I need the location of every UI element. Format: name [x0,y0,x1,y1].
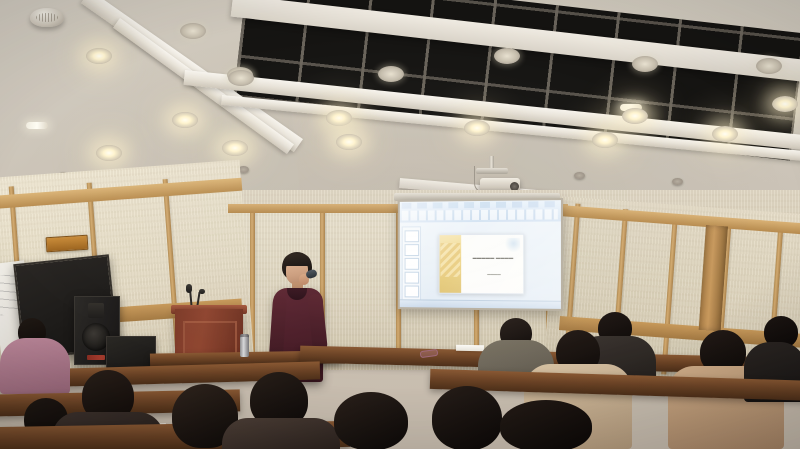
smoke-detector-icon [30,8,64,27]
audience-body [222,418,340,449]
ceiling-light [96,145,122,161]
metal-thermos [240,337,249,357]
slide-thumbnail-pane [402,226,421,305]
slide-thumbnail [405,244,419,256]
ceiling-light [228,70,254,86]
slide-thumbnail [405,272,419,284]
lecture-hall-photo: ▬▬▬▬▬ ▬▬▬▬ ▬▬▬▬ [0,0,800,449]
ceiling-light [632,56,658,72]
handout-paper [456,345,484,351]
slide-title: ▬▬▬▬▬ ▬▬▬▬ [466,255,520,261]
status-bar [400,299,561,309]
ribbon-tabs [402,201,557,209]
microphone-head-icon [199,289,205,294]
ceiling-light [222,140,248,156]
ceiling-light [756,58,782,74]
speaker-badge [87,355,105,360]
presenter-fringe [283,254,311,266]
audience-body [0,338,70,394]
projection-screen: ▬▬▬▬▬ ▬▬▬▬ ▬▬▬▬ [398,198,563,311]
slide-subtitle: ▬▬▬▬ [473,272,515,277]
ceiling-light [622,108,648,124]
current-slide: ▬▬▬▬▬ ▬▬▬▬ ▬▬▬▬ [439,234,525,295]
slide-thumbnail [405,286,419,298]
ceiling-light [26,122,48,129]
slide-editor-body: ▬▬▬▬▬ ▬▬▬▬ ▬▬▬▬ [400,221,561,308]
slide-thumbnail [405,230,419,242]
audience-head [500,400,592,449]
software-ribbon [400,200,561,223]
ceiling-light [378,66,404,82]
speaker-horn [88,303,104,318]
ceiling-light [86,48,112,64]
ceiling-light [180,23,206,39]
ceiling-light [494,48,520,64]
audience-head [334,392,408,449]
wall-plaque [46,235,89,253]
sprinkler-head-icon [672,178,683,185]
ceiling-light [592,132,618,148]
audience-head [432,386,502,449]
subwoofer [106,336,156,370]
wall-batten [661,215,678,375]
microphone-head-icon [186,284,192,293]
ceiling-light [772,96,798,112]
ceiling-light [326,110,352,126]
slide-thumbnail [405,258,419,270]
slide-artwork [440,235,462,293]
ribbon-buttons [402,209,558,220]
ceiling-light [712,126,738,142]
slide-decoration [504,238,520,252]
handheld-microphone [305,269,318,280]
ceiling-light [464,120,490,136]
ceiling-light [172,112,198,128]
ceiling-light [336,134,362,150]
sprinkler-head-icon [574,172,585,179]
